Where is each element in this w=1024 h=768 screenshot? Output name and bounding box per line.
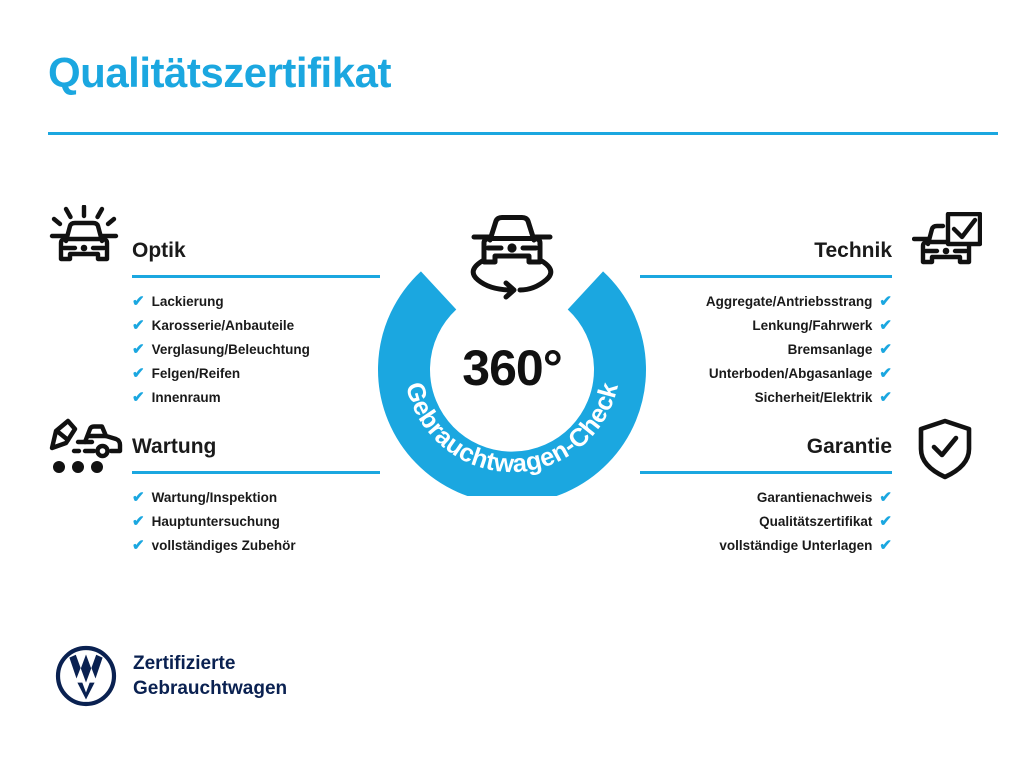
section-garantie-divider [640,471,892,474]
title-divider [48,132,998,135]
check-icon: ✔ [879,314,892,338]
section-garantie-header: Garantie [640,434,892,474]
section-garantie: Garantie Garantienachweis ✔ Qualitätszer… [640,434,892,558]
section-technik-title: Technik [640,238,892,264]
360-check-badge: Gebrauchtwagen-Check [374,196,650,496]
section-technik-list: Aggregate/Antriebsstrang ✔ Lenkung/Fahrw… [640,290,892,410]
check-icon: ✔ [132,534,145,558]
list-item: ✔ Karosserie/Anbauteile [132,314,380,338]
shield-check-icon [916,418,974,480]
list-item: Bremsanlage ✔ [640,338,892,362]
list-item: Aggregate/Antriebsstrang ✔ [640,290,892,314]
list-item: Qualitätszertifikat ✔ [640,510,892,534]
section-technik-divider [640,275,892,278]
section-optik-header: Optik [132,238,380,278]
list-item: vollständige Unterlagen ✔ [640,534,892,558]
section-optik: Optik ✔ Lackierung ✔ Karosserie/Anbautei… [132,238,380,410]
list-item-label: vollständiges Zubehör [152,534,296,558]
list-item-label: Hauptuntersuchung [152,510,280,534]
section-wartung-list: ✔ Wartung/Inspektion ✔ Hauptuntersuchung… [132,486,380,558]
check-icon: ✔ [879,362,892,386]
certificate-page: Qualitätszertifikat Optik ✔ La [0,0,1024,768]
badge-center-number: 360° [374,339,650,397]
check-icon: ✔ [879,486,892,510]
list-item-label: Aggregate/Antriebsstrang [706,290,873,314]
pencil-car-service-icon [48,418,124,476]
check-icon: ✔ [132,510,145,534]
car-front-shine-icon [48,205,120,273]
section-wartung: Wartung ✔ Wartung/Inspektion ✔ Hauptunte… [132,434,380,558]
list-item: ✔ vollständiges Zubehör [132,534,380,558]
vw-certified-logo: Zertifizierte Gebrauchtwagen [55,645,287,707]
list-item-label: Bremsanlage [788,338,873,362]
check-icon: ✔ [879,338,892,362]
check-icon: ✔ [132,386,145,410]
list-item-label: Sicherheit/Elektrik [755,386,873,410]
list-item-label: Innenraum [152,386,221,410]
check-icon: ✔ [879,510,892,534]
list-item: ✔ Lackierung [132,290,380,314]
section-technik: Technik Aggregate/Antriebsstrang ✔ Lenku… [640,238,892,410]
vw-roundel-icon [55,645,117,707]
list-item: ✔ Wartung/Inspektion [132,486,380,510]
list-item-label: Lenkung/Fahrwerk [752,314,872,338]
list-item: ✔ Felgen/Reifen [132,362,380,386]
section-technik-header: Technik [640,238,892,278]
section-wartung-divider [132,471,380,474]
section-optik-divider [132,275,380,278]
section-garantie-title: Garantie [640,434,892,460]
page-title: Qualitätszertifikat [48,50,391,96]
car-checkbox-icon [912,212,982,274]
check-icon: ✔ [879,386,892,410]
list-item-label: Garantienachweis [757,486,873,510]
check-icon: ✔ [879,534,892,558]
check-icon: ✔ [132,338,145,362]
section-garantie-list: Garantienachweis ✔ Qualitätszertifikat ✔… [640,486,892,558]
list-item-label: Qualitätszertifikat [759,510,872,534]
list-item-label: vollständige Unterlagen [719,534,872,558]
list-item-label: Lackierung [152,290,224,314]
section-wartung-header: Wartung [132,434,380,474]
vw-certified-text: Zertifizierte Gebrauchtwagen [133,651,287,701]
check-icon: ✔ [879,290,892,314]
section-wartung-title: Wartung [132,434,380,460]
section-optik-title: Optik [132,238,380,264]
list-item: ✔ Innenraum [132,386,380,410]
check-icon: ✔ [132,290,145,314]
list-item: Lenkung/Fahrwerk ✔ [640,314,892,338]
check-icon: ✔ [132,314,145,338]
check-icon: ✔ [132,486,145,510]
list-item-label: Verglasung/Beleuchtung [152,338,310,362]
list-item: ✔ Hauptuntersuchung [132,510,380,534]
section-optik-list: ✔ Lackierung ✔ Karosserie/Anbauteile ✔ V… [132,290,380,410]
footer-line-1: Zertifizierte [133,651,287,676]
list-item: Sicherheit/Elektrik ✔ [640,386,892,410]
list-item: ✔ Verglasung/Beleuchtung [132,338,380,362]
list-item: Unterboden/Abgasanlage ✔ [640,362,892,386]
footer-line-2: Gebrauchtwagen [133,676,287,701]
check-icon: ✔ [132,362,145,386]
list-item-label: Felgen/Reifen [152,362,241,386]
list-item: Garantienachweis ✔ [640,486,892,510]
list-item-label: Unterboden/Abgasanlage [709,362,873,386]
list-item-label: Karosserie/Anbauteile [152,314,295,338]
list-item-label: Wartung/Inspektion [152,486,278,510]
